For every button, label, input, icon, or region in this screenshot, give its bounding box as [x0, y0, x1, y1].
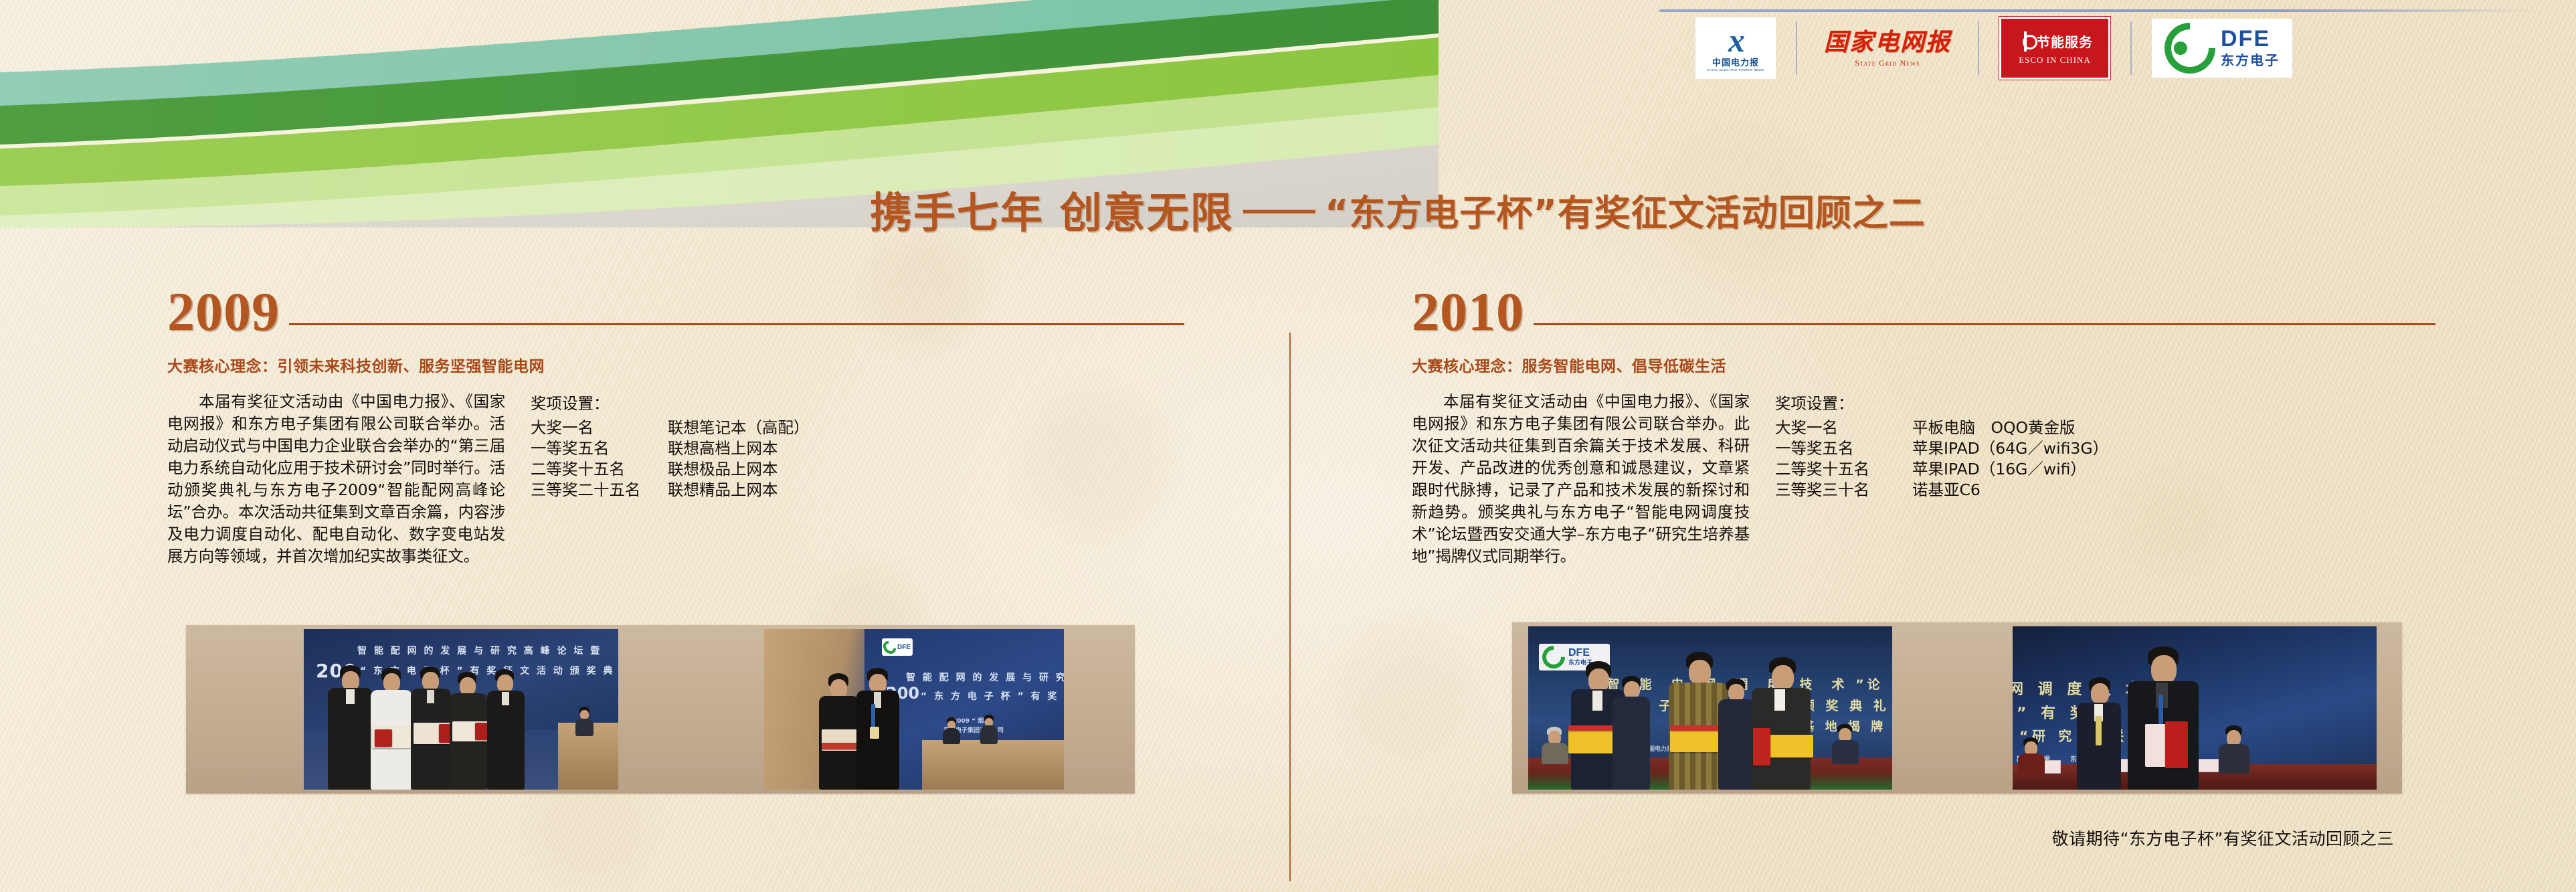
dfe-logo-en: DFE — [2221, 28, 2280, 50]
year-rule — [289, 323, 1184, 325]
award-prize: 联想笔记本（高配） — [668, 418, 810, 438]
esco-logo-cn: 节能服务 — [2037, 31, 2093, 51]
award-rank: 大奖一名 — [531, 418, 668, 438]
core-concept-value: 服务智能电网、倡导低碳生活 — [1522, 358, 1727, 375]
award-row: 大奖一名 联想笔记本（高配） — [531, 418, 810, 438]
award-rank: 一等奖五名 — [1775, 438, 1912, 459]
photo-2010-award-ceremony-group: DFE东方电子 “智 能 电 网 调 度 技 术 ”论 坛、 方 电 子 杯 有… — [1528, 626, 1892, 790]
year-heading-2009: 2009 — [167, 288, 1184, 336]
cepn-logo-cn: 中国电力报 — [1712, 56, 1759, 68]
body-paragraph: 本届有奖征文活动由《中国电力报》、《国家电网报》和东方电子集团有限公司联合举办。… — [167, 391, 505, 567]
section-2009: 2009 大赛核心理念：引领未来科技创新、服务坚强智能电网 本届有奖征文活动由《… — [167, 288, 1184, 567]
title-dash: —— — [1243, 189, 1315, 230]
esco-logo-en: ESCO IN CHINA — [2019, 55, 2091, 66]
dfe-swirl-icon — [2154, 12, 2225, 84]
photo-strip-2009: 智 能 配 网 的 发 展 与 研 究 高 峰 论 坛 暨 200 “ 东 方 … — [186, 625, 1135, 794]
core-concept-label: 大赛核心理念： — [167, 358, 278, 375]
logo-state-grid-news: 国家电网报 State Grid News — [1797, 16, 1978, 80]
awards-title: 奖项设置： — [1775, 391, 2108, 414]
award-row: 二等奖十五名 联想极品上网本 — [531, 459, 810, 480]
dfe-logo-cn: 东方电子 — [2221, 50, 2280, 69]
award-rank: 一等奖五名 — [531, 438, 668, 459]
award-prize: 联想极品上网本 — [668, 459, 778, 480]
year-number: 2010 — [1412, 288, 1524, 336]
award-prize: 诺基亚C6 — [1912, 480, 1981, 501]
cepn-logo-en: CHINA ELECTRIC POWER NEWS — [1707, 68, 1764, 72]
award-row: 三等奖三十名 诺基亚C6 — [1775, 480, 2108, 501]
title-primary: 携手七年 创意无限 — [870, 179, 1234, 240]
year-rule — [1534, 323, 2435, 325]
award-rank: 三等奖三十名 — [1775, 480, 1912, 501]
footer-note: 敬请期待“东方电子杯”有奖征文活动回顾之三 — [2052, 826, 2394, 850]
award-prize: 平板电脑 OQO黄金版 — [1912, 418, 2076, 438]
photo-strip-2010: DFE东方电子 “智 能 电 网 调 度 技 术 ”论 坛、 方 电 子 杯 有… — [1512, 622, 2402, 794]
awards-2010: 奖项设置： 大奖一名 平板电脑 OQO黄金版 一等奖五名 苹果IPAD（64G／… — [1775, 391, 2108, 567]
year-heading-2010: 2010 — [1412, 288, 2435, 336]
logo-separator — [2130, 21, 2132, 75]
cepn-mark-icon: x — [1728, 25, 1743, 56]
award-rank: 二等奖十五名 — [531, 459, 668, 480]
award-row: 一等奖五名 联想高档上网本 — [531, 438, 810, 459]
title-secondary: “东方电子杯”有奖征文活动回顾之二 — [1325, 183, 1926, 236]
logo-dongfang-electronics: DFE 东方电子 — [2132, 16, 2312, 80]
photo-2009-award-ceremony-group: 智 能 配 网 的 发 展 与 研 究 高 峰 论 坛 暨 200 “ 东 方 … — [304, 629, 618, 790]
section-divider — [1289, 333, 1291, 881]
award-prize: 联想高档上网本 — [668, 438, 778, 459]
body-text-2010: 本届有奖征文活动由《中国电力报》、《国家电网报》和东方电子集团有限公司联合举办。… — [1412, 391, 1750, 567]
award-prize: 联想精品上网本 — [668, 480, 778, 501]
sgn-logo-en: State Grid News — [1855, 58, 1920, 68]
award-row: 二等奖十五名 苹果IPAD（16G／wifi） — [1775, 459, 2108, 480]
award-row: 大奖一名 平板电脑 OQO黄金版 — [1775, 418, 2108, 438]
esco-leaf-icon — [2017, 31, 2034, 52]
logo-china-electric-power-news: x 中国电力报 CHINA ELECTRIC POWER NEWS — [1675, 16, 1796, 80]
awards-2009: 奖项设置： 大奖一名 联想笔记本（高配） 一等奖五名 联想高档上网本 二等奖十五… — [531, 391, 810, 567]
logo-separator — [1796, 21, 1797, 75]
logo-esco-in-china: 节能服务 ESCO IN CHINA — [1979, 16, 2130, 80]
sgn-logo-cn: 国家电网报 — [1824, 29, 1951, 56]
sponsor-logo-bar: x 中国电力报 CHINA ELECTRIC POWER NEWS 国家电网报 … — [1653, 0, 2549, 87]
award-row: 三等奖二十五名 联想精品上网本 — [531, 480, 810, 501]
photo-2010-award-handover: 网 调 度 技 术 论 ” 有 奖 征 “研 究 生 联 合 国家电网报 东方电… — [2013, 626, 2377, 790]
award-prize: 苹果IPAD（64G／wifi3G） — [1912, 438, 2108, 459]
award-row: 一等奖五名 苹果IPAD（64G／wifi3G） — [1775, 438, 2108, 459]
award-rank: 大奖一名 — [1775, 418, 1912, 438]
logo-bar-rule — [1659, 9, 2537, 12]
page-title: 携手七年 创意无限 —— “东方电子杯”有奖征文活动回顾之二 — [870, 186, 2275, 233]
photo-2009-award-handover: DFE 智 能 配 网 的 发 展 与 研 究 高 200 “ 东 方 电 子 … — [764, 629, 1064, 790]
body-paragraph: 本届有奖征文活动由《中国电力报》、《国家电网报》和东方电子集团有限公司联合举办。… — [1412, 391, 1750, 567]
award-prize: 苹果IPAD（16G／wifi） — [1912, 459, 2086, 480]
core-concept-2009: 大赛核心理念：引领未来科技创新、服务坚强智能电网 — [167, 353, 1184, 376]
core-concept-value: 引领未来科技创新、服务坚强智能电网 — [278, 358, 545, 375]
awards-title: 奖项设置： — [531, 391, 810, 414]
year-number: 2009 — [167, 288, 280, 336]
award-rank: 三等奖二十五名 — [531, 480, 668, 501]
body-text-2009: 本届有奖征文活动由《中国电力报》、《国家电网报》和东方电子集团有限公司联合举办。… — [167, 391, 505, 567]
logo-separator — [1978, 21, 1979, 75]
core-concept-2010: 大赛核心理念：服务智能电网、倡导低碳生活 — [1412, 353, 2435, 376]
section-2010: 2010 大赛核心理念：服务智能电网、倡导低碳生活 本届有奖征文活动由《中国电力… — [1412, 288, 2435, 567]
core-concept-label: 大赛核心理念： — [1412, 358, 1522, 375]
award-rank: 二等奖十五名 — [1775, 459, 1912, 480]
